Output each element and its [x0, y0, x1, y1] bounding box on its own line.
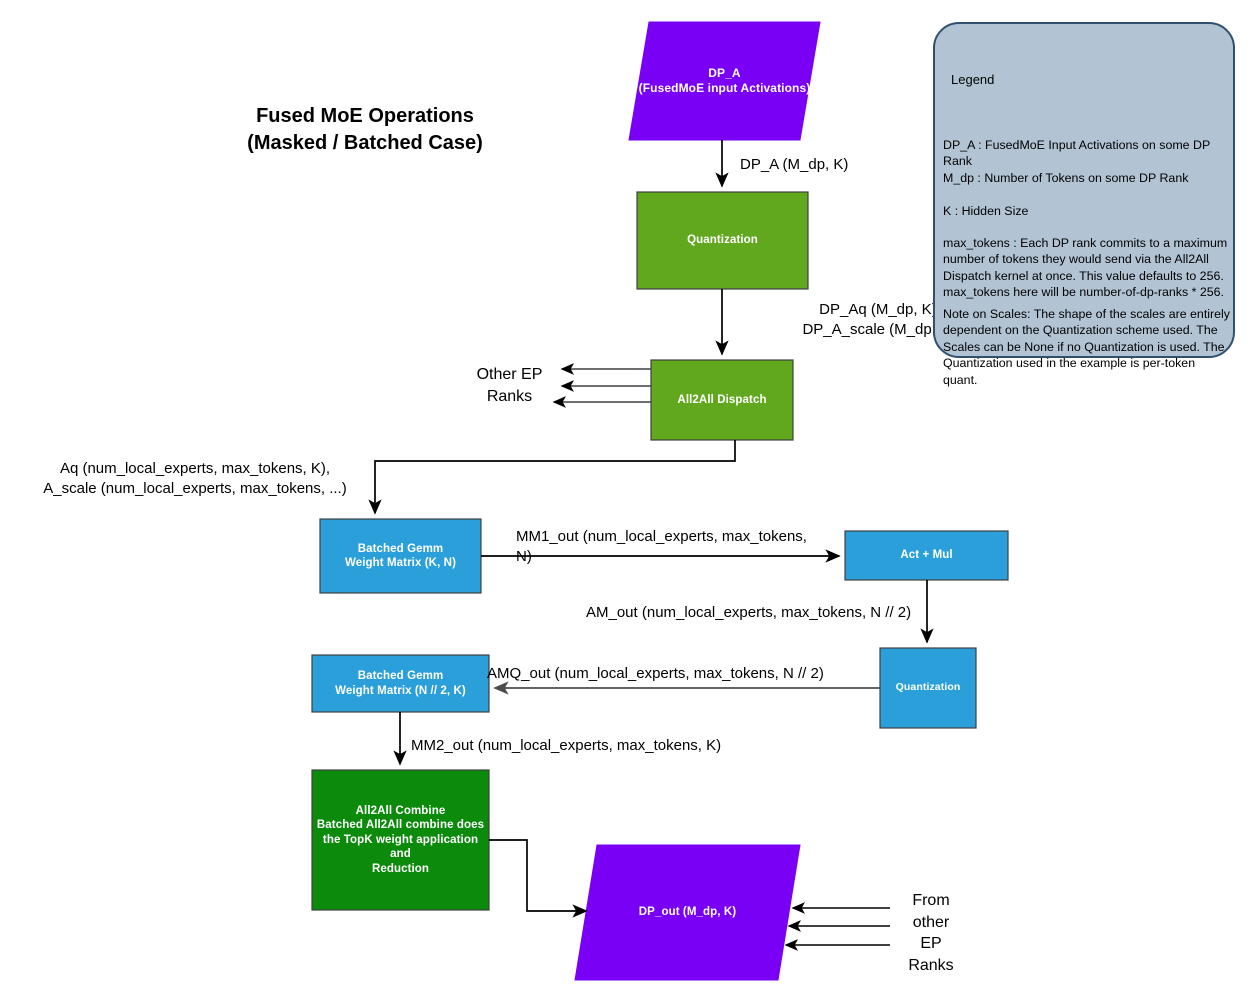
edge-label-quantization2-to-gemm2: AMQ_out (num_local_experts, max_tokens, …	[487, 664, 857, 684]
edge-label-dispatch-to-gemm1: Aq (num_local_experts, max_tokens, K), A…	[20, 459, 370, 498]
legend-entry-m-dp: M_dp : Number of Tokens on some DP Rank	[943, 170, 1231, 186]
page-title: Fused MoE Operations (Masked / Batched C…	[200, 103, 530, 157]
legend-entry-note-on-scales: Note on Scales: The shape of the scales …	[943, 306, 1231, 388]
node-shape-batched-gemm-2	[312, 655, 489, 712]
edge-label-gemm1-to-actmul: MM1_out (num_local_experts, max_tokens, …	[516, 527, 826, 566]
legend-title: Legend	[951, 72, 994, 87]
legend-entry-max-tokens: max_tokens : Each DP rank commits to a m…	[943, 235, 1231, 301]
node-shape-all2all-dispatch	[651, 360, 793, 440]
legend-entry-dp-a: DP_A : FusedMoE Input Activations on som…	[943, 137, 1231, 170]
edge-dispatch-to-gemm1	[375, 440, 735, 513]
legend-entry-k: K : Hidden Size	[943, 203, 1231, 219]
node-shape-batched-gemm-1	[320, 519, 481, 593]
label-other-ep-ranks: Other EP Ranks	[467, 364, 552, 407]
edge-label-actmul-to-quantization2: AM_out (num_local_experts, max_tokens, N…	[586, 603, 926, 623]
edge-combine-to-dp-out	[489, 840, 586, 911]
label-from-other-ep-ranks: From other EP Ranks	[896, 890, 966, 976]
diagram-canvas: Fused MoE Operations (Masked / Batched C…	[0, 0, 1260, 1001]
node-shape-dp-a	[629, 22, 820, 140]
node-shape-act-mul	[845, 531, 1008, 580]
node-shape-dp-out	[575, 845, 800, 980]
edge-label-gemm2-to-combine: MM2_out (num_local_experts, max_tokens, …	[411, 736, 771, 756]
node-shape-quantization-2	[880, 648, 976, 728]
node-shape-quantization-1	[637, 192, 808, 289]
legend-panel: Legend DP_A : FusedMoE Input Activations…	[933, 22, 1235, 358]
node-shape-all2all-combine	[312, 770, 489, 910]
